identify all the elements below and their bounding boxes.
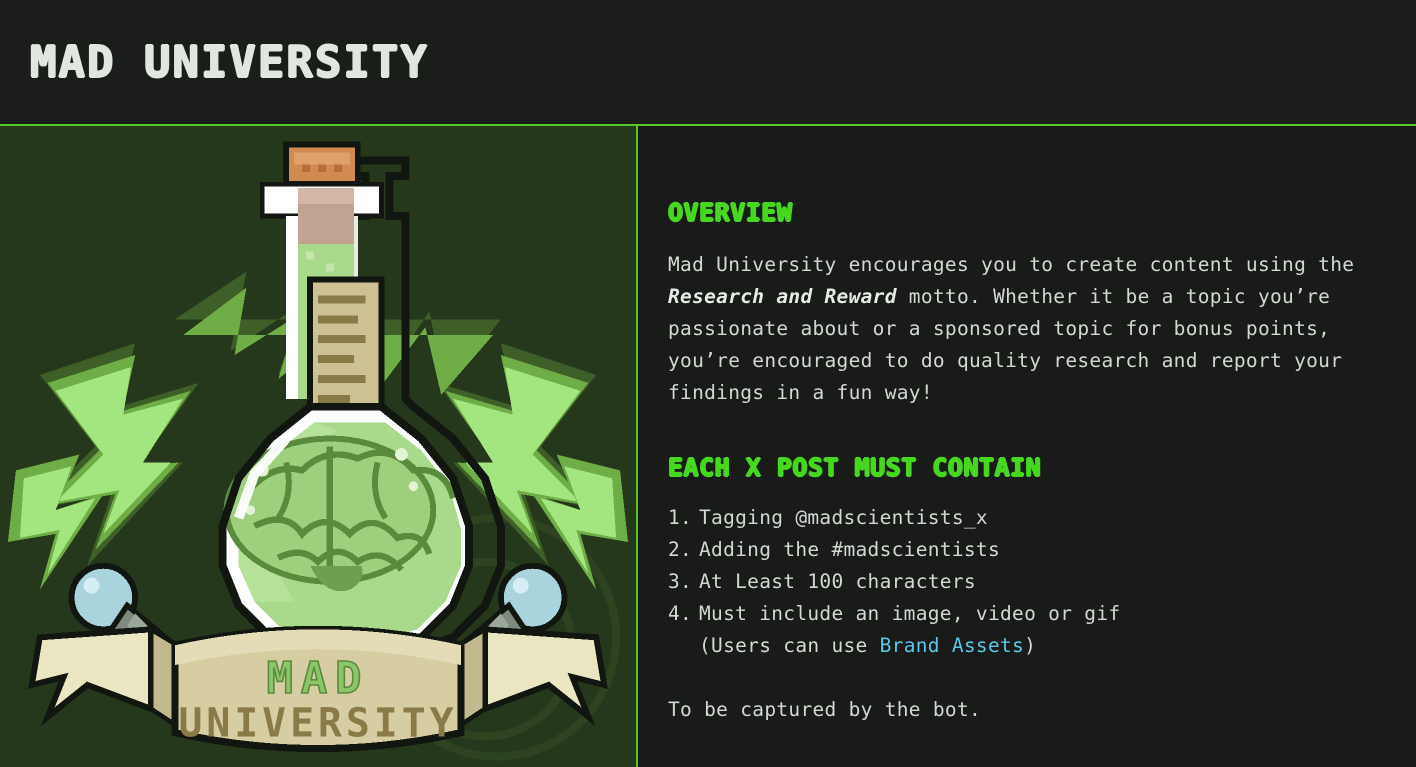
page-header: MAD UNIVERSITY [0,0,1416,126]
page-title: MAD UNIVERSITY [30,37,429,88]
overview-paragraph: Mad University encourages you to create … [668,249,1356,409]
artwork-panel: MAD UNIVERSITY [0,126,638,767]
requirements-heading: EACH X POST MUST CONTAIN [668,453,1356,482]
content-panel: OVERVIEW Mad University encourages you t… [638,126,1416,767]
list-item-label: Must include an image, video or gif [699,598,1120,630]
footer-note: To be captured by the bot. [668,694,1356,726]
mad-university-potion-logo-icon: MAD UNIVERSITY [0,127,636,766]
list-item: 2. Adding the #madscientists [668,534,1356,566]
brand-assets-note-prefix: (Users can use [699,634,880,657]
list-item: 4. Must include an image, video or gif [668,598,1356,630]
list-item-number: 2. [668,534,699,566]
requirements-list: 1. Tagging @madscientists_x 2. Adding th… [668,502,1356,630]
list-item-number: 3. [668,566,699,598]
overview-heading: OVERVIEW [668,198,1356,227]
brand-assets-note-suffix: ) [1024,634,1036,657]
brand-assets-note: (Users can use Brand Assets) [668,630,1356,662]
list-item-number: 4. [668,598,699,630]
list-item-label: At Least 100 characters [699,566,976,598]
banner-bottom-text: UNIVERSITY [178,701,457,747]
page-root: MAD UNIVERSITY [0,0,1416,767]
banner-top-text: MAD [267,653,370,704]
list-item-number: 1. [668,502,699,534]
brand-assets-link[interactable]: Brand Assets [880,634,1024,657]
list-item: 1. Tagging @madscientists_x [668,502,1356,534]
overview-motto: Research and Reward [668,285,897,308]
list-item-label: Tagging @madscientists_x [699,502,988,534]
overview-text-before-motto: Mad University encourages you to create … [668,253,1354,276]
list-item: 3. At Least 100 characters [668,566,1356,598]
list-item-label: Adding the #madscientists [699,534,1000,566]
body-split: MAD UNIVERSITY OVERVIEW Mad University e… [0,126,1416,767]
